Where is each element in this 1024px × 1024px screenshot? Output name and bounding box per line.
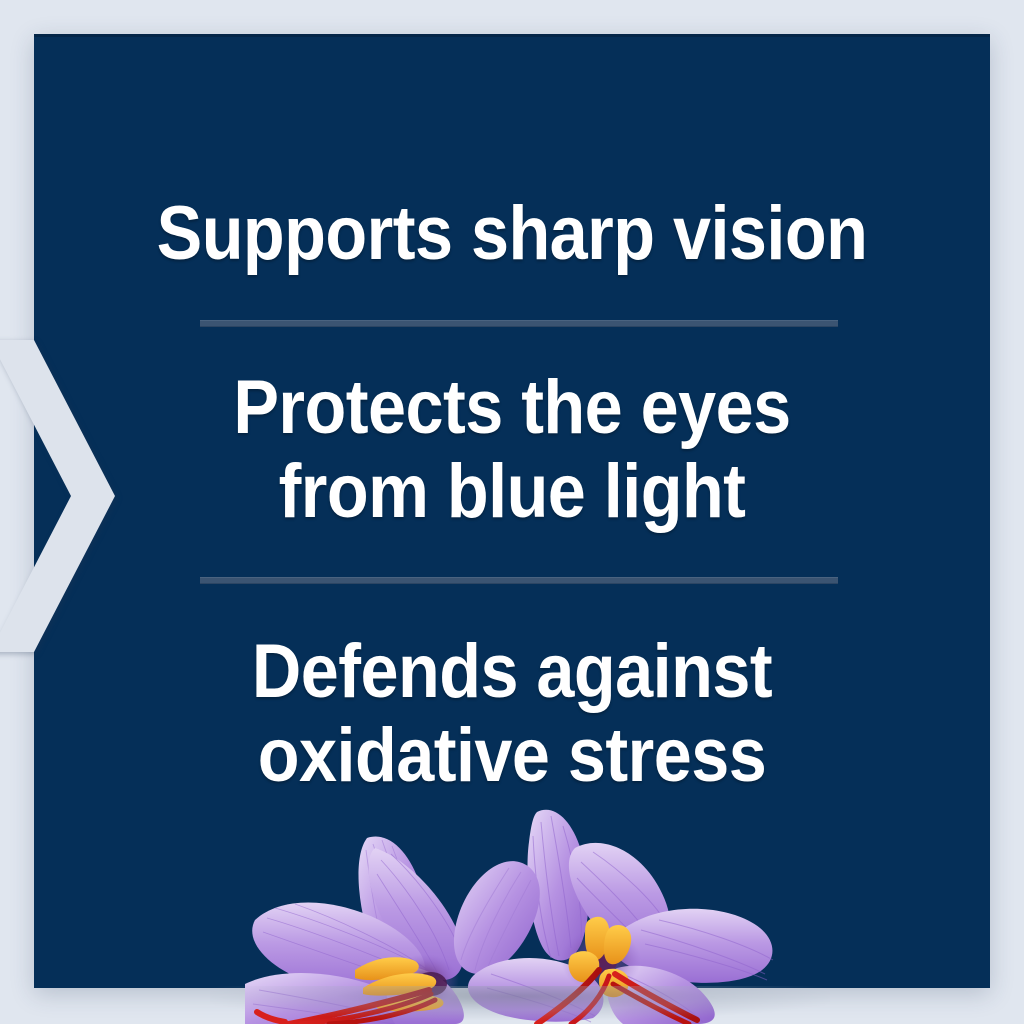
flower-right	[454, 810, 773, 1024]
divider-2	[200, 577, 838, 584]
promo-card-stage: Supports sharp vision Protects the eyes …	[0, 0, 1024, 1024]
flower-left	[245, 837, 464, 1024]
benefit-item-defends-oxidative-stress: Defends against oxidative stress	[82, 630, 942, 798]
saffron-crocus-flowers	[245, 808, 775, 1024]
chevron-right-icon	[0, 340, 115, 652]
benefit-item-protects-from-blue-light: Protects the eyes from blue light	[82, 366, 942, 534]
benefit-item-supports-sharp-vision: Supports sharp vision	[82, 192, 942, 276]
divider-1	[200, 320, 838, 327]
